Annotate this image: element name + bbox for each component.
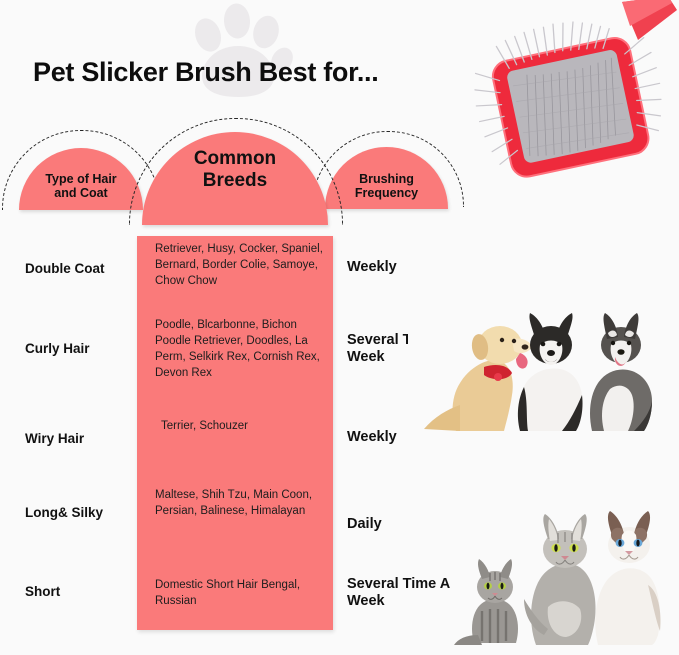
header-label-type-of-hair: Type of Hair and Coat (19, 172, 143, 201)
row-type-label: Long& Silky (25, 505, 137, 521)
row-type-label: Double Coat (25, 261, 137, 277)
three-dogs-photo (408, 283, 670, 435)
header-label-left-line1: Type of Hair (19, 172, 143, 186)
header-label-right-line1: Brushing (325, 172, 448, 186)
header-label-common-breeds: Common Breeds (142, 148, 328, 192)
header-label-center-line1: Common (142, 148, 328, 170)
row-breeds-value: Poodle, Blcarbonne, Bichon Poodle Retrie… (155, 318, 331, 381)
row-type-label: Short (25, 584, 137, 600)
page-title: Pet Slicker Brush Best for... (33, 57, 378, 88)
row-type-label: Curly Hair (25, 341, 137, 357)
row-type-label: Wiry Hair (25, 431, 137, 447)
slicker-brush-photo (472, 0, 679, 192)
header-label-center-line2: Breeds (142, 170, 328, 192)
row-breeds-value: Domestic Short Hair Bengal, Russian (155, 578, 331, 610)
row-breeds-value: Retriever, Husy, Cocker, Spaniel, Bernar… (155, 242, 331, 290)
infographic-page: Pet Slicker Brush Best for... Type of Ha… (0, 0, 679, 655)
row-breeds-value: Maltese, Shih Tzu, Main Coon, Persian, B… (155, 488, 331, 520)
header-label-left-line2: and Coat (19, 186, 143, 200)
row-breeds-value: Terrier, Schouzer (161, 419, 337, 435)
header-label-right-line2: Frequency (325, 186, 448, 200)
three-cats-photo (452, 495, 671, 647)
row-frequency-value: Weekly (347, 259, 473, 276)
header-label-brushing-frequency: Brushing Frequency (325, 172, 448, 201)
